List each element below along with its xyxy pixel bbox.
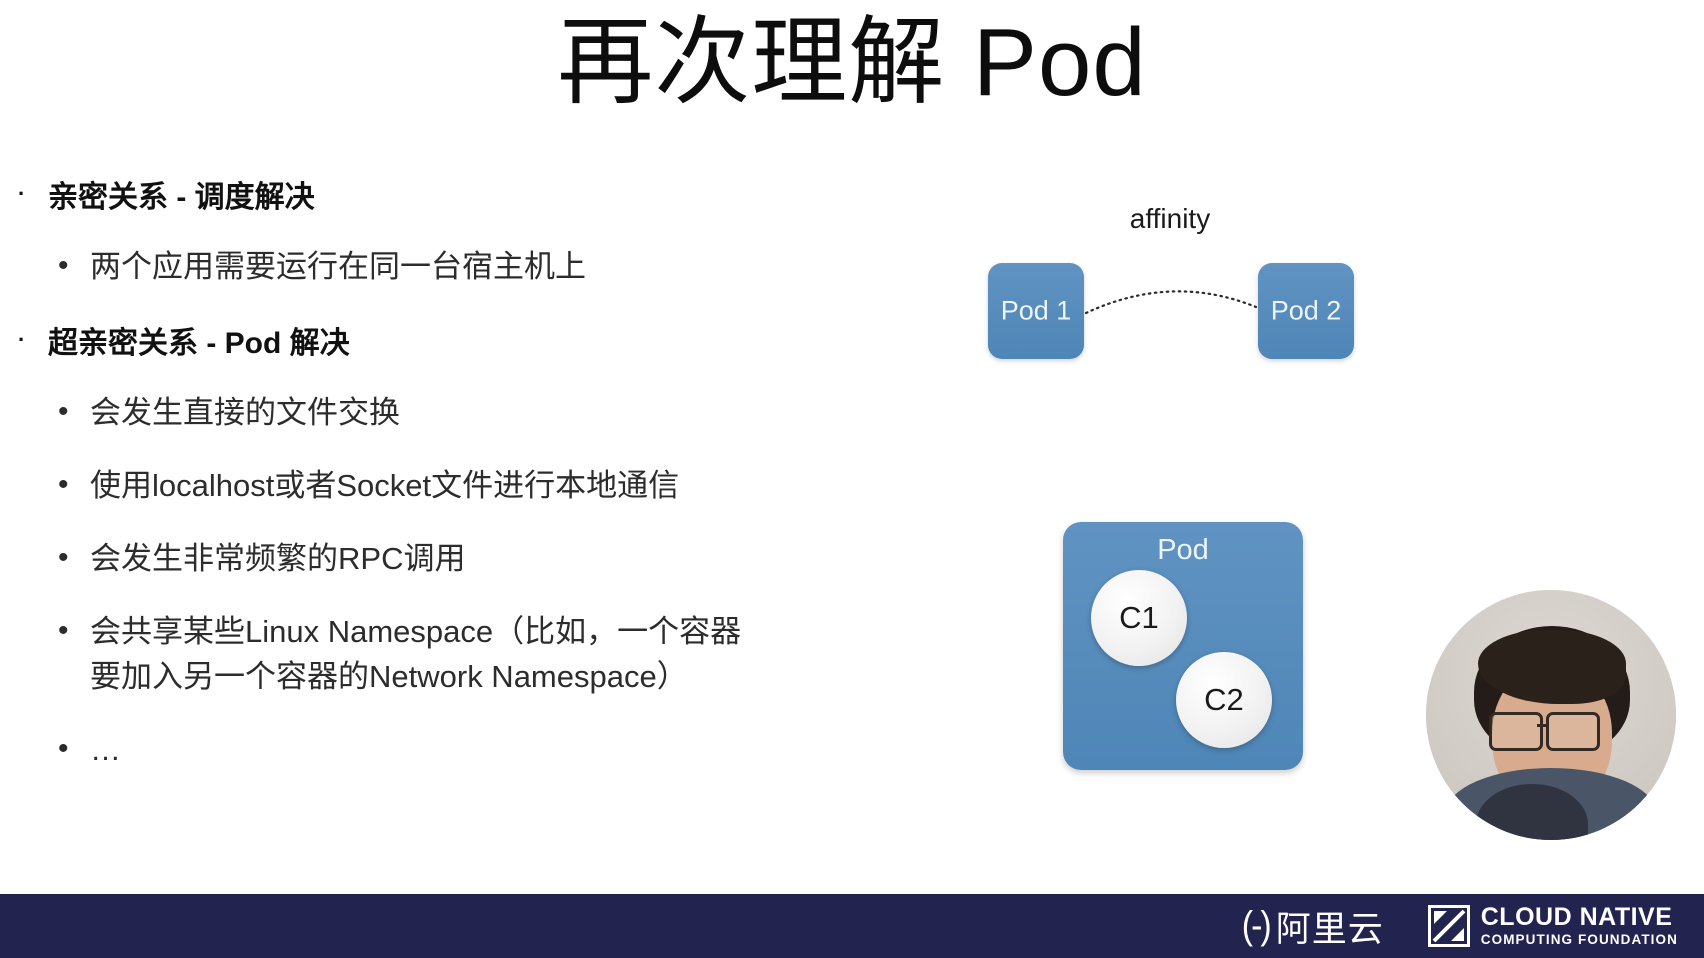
- slide-canvas: 再次理解 Pod · 亲密关系 - 调度解决 • 两个应用需要运行在同一台宿主机…: [0, 0, 1704, 958]
- bullet-marker-level2: •: [58, 727, 69, 771]
- bullet-level2-label: 会共享某些Linux Namespace（比如，一个容器要加入另一个容器的Net…: [90, 614, 741, 694]
- bullet-level2: • 会发生非常频繁的RPC调用: [0, 537, 880, 582]
- bullet-marker-level2: •: [58, 390, 69, 434]
- cncf-mark-icon: [1428, 905, 1470, 947]
- bullet-level2-label: …: [90, 732, 121, 767]
- cncf-line1: CLOUD NATIVE: [1481, 905, 1678, 930]
- cncf-wordmark: CLOUD NATIVE COMPUTING FOUNDATION: [1481, 905, 1678, 947]
- bullet-marker-level1: ·: [18, 180, 25, 209]
- bullet-level1: · 超亲密关系 - Pod 解决: [0, 324, 880, 363]
- pod-1-box: Pod 1: [988, 263, 1084, 359]
- bullet-marker-level2: •: [58, 536, 69, 580]
- webcam-glasses-left: [1489, 712, 1543, 751]
- page-title: 再次理解 Pod: [0, 8, 1704, 118]
- bullet-level1-label: 超亲密关系 - Pod 解决: [48, 327, 350, 360]
- bullet-level2: • 会共享某些Linux Namespace（比如，一个容器要加入另一个容器的N…: [0, 610, 880, 700]
- bullet-level1-label: 亲密关系 - 调度解决: [48, 181, 315, 214]
- pod-2-label: Pod 2: [1258, 296, 1354, 327]
- container-c1-label: C1: [1091, 600, 1187, 636]
- aliyun-mark-icon: (-): [1242, 904, 1270, 949]
- bullet-level2-label: 两个应用需要运行在同一台宿主机上: [90, 249, 586, 284]
- pod-label: Pod: [1063, 534, 1303, 567]
- bullet-level1: · 亲密关系 - 调度解决: [0, 178, 880, 217]
- pod-1-label: Pod 1: [988, 296, 1084, 327]
- bullet-level2: • 两个应用需要运行在同一台宿主机上: [0, 245, 880, 290]
- presenter-webcam: [1426, 590, 1676, 840]
- affinity-diagram: affinity Pod 1 Pod 2: [900, 195, 1400, 385]
- bullet-level2: • 会发生直接的文件交换: [0, 391, 880, 436]
- cncf-line2: COMPUTING FOUNDATION: [1481, 933, 1678, 947]
- pod-containers-diagram: Pod C1 C2: [1063, 522, 1303, 770]
- bullet-level2: • 使用localhost或者Socket文件进行本地通信: [0, 464, 880, 509]
- pod-2-box: Pod 2: [1258, 263, 1354, 359]
- bullet-marker-level1: ·: [18, 326, 25, 355]
- bullet-level2: • …: [0, 728, 880, 773]
- bullet-marker-level2: •: [58, 463, 69, 507]
- webcam-glasses-right: [1546, 712, 1600, 751]
- footer-bar: (-) 阿里云 CLOUD NATIVE COMPUTING FOUNDATIO…: [0, 894, 1704, 958]
- container-c1: C1: [1091, 570, 1187, 666]
- bullet-marker-level2: •: [58, 609, 69, 653]
- bullet-content: · 亲密关系 - 调度解决 • 两个应用需要运行在同一台宿主机上 · 超亲密关系…: [0, 178, 880, 801]
- bullet-level2-label: 会发生直接的文件交换: [90, 395, 400, 430]
- cncf-logo: CLOUD NATIVE COMPUTING FOUNDATION: [1428, 905, 1678, 947]
- aliyun-logo: (-) 阿里云: [1242, 901, 1384, 952]
- bullet-marker-level2: •: [58, 244, 69, 288]
- bullet-level2-label: 会发生非常频繁的RPC调用: [90, 541, 465, 576]
- container-c2: C2: [1176, 652, 1272, 748]
- bullet-level2-label: 使用localhost或者Socket文件进行本地通信: [90, 468, 679, 503]
- webcam-glasses-bridge: [1537, 724, 1546, 727]
- container-c2-label: C2: [1176, 682, 1272, 718]
- aliyun-wordmark: 阿里云: [1276, 901, 1384, 952]
